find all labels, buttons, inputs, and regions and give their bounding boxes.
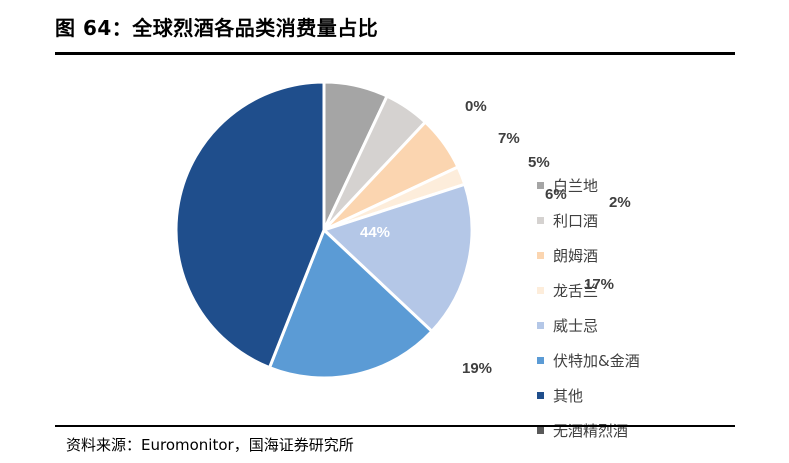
- footer-divider: [55, 425, 735, 427]
- pie-chart-svg: [174, 80, 474, 380]
- slice-label-non-alcoholic: 0%: [465, 98, 487, 115]
- pie-slice-group: [176, 82, 472, 378]
- pie-chart-area: 0% 7% 5% 6% 2% 17% 19% 44% 白兰地利口酒朗姆酒龙舌兰威…: [0, 58, 789, 418]
- figure-title-block: 图 64：全球烈酒各品类消费量占比: [55, 14, 735, 54]
- legend-swatch-icon: [537, 427, 544, 434]
- legend-swatch-icon: [537, 217, 544, 224]
- legend-swatch-icon: [537, 392, 544, 399]
- legend-item[interactable]: 利口酒: [537, 203, 737, 238]
- legend-item-label: 白兰地: [553, 178, 598, 194]
- legend-item[interactable]: 无酒精烈酒: [537, 413, 737, 448]
- legend-item-label: 伏特加&金酒: [553, 353, 640, 369]
- legend-item[interactable]: 其他: [537, 378, 737, 413]
- source-note: 资料来源：Euromonitor，国海证券研究所: [66, 434, 354, 455]
- legend-swatch-icon: [537, 287, 544, 294]
- slice-label-brandy: 7%: [498, 130, 520, 147]
- page-title: 图 64：全球烈酒各品类消费量占比: [55, 14, 735, 42]
- chart-legend: 白兰地利口酒朗姆酒龙舌兰威士忌伏特加&金酒其他无酒精烈酒: [537, 168, 737, 448]
- slice-label-vodka-gin: 19%: [462, 360, 492, 377]
- legend-swatch-icon: [537, 357, 544, 364]
- legend-item[interactable]: 威士忌: [537, 308, 737, 343]
- figure-container: 图 64：全球烈酒各品类消费量占比 0% 7% 5% 6% 2% 17% 19%…: [0, 0, 789, 463]
- slice-label-other: 44%: [360, 224, 390, 241]
- legend-item[interactable]: 伏特加&金酒: [537, 343, 737, 378]
- title-divider: [55, 52, 735, 55]
- legend-item-label: 龙舌兰: [553, 283, 598, 299]
- legend-item[interactable]: 白兰地: [537, 168, 737, 203]
- legend-item-label: 朗姆酒: [553, 248, 598, 264]
- legend-item-label: 利口酒: [553, 213, 598, 229]
- legend-swatch-icon: [537, 182, 544, 189]
- legend-item-label: 威士忌: [553, 318, 598, 334]
- legend-item[interactable]: 朗姆酒: [537, 238, 737, 273]
- legend-swatch-icon: [537, 252, 544, 259]
- legend-item[interactable]: 龙舌兰: [537, 273, 737, 308]
- legend-item-label: 其他: [553, 388, 583, 404]
- legend-swatch-icon: [537, 322, 544, 329]
- pie-chart: 0% 7% 5% 6% 2% 17% 19% 44%: [174, 80, 474, 380]
